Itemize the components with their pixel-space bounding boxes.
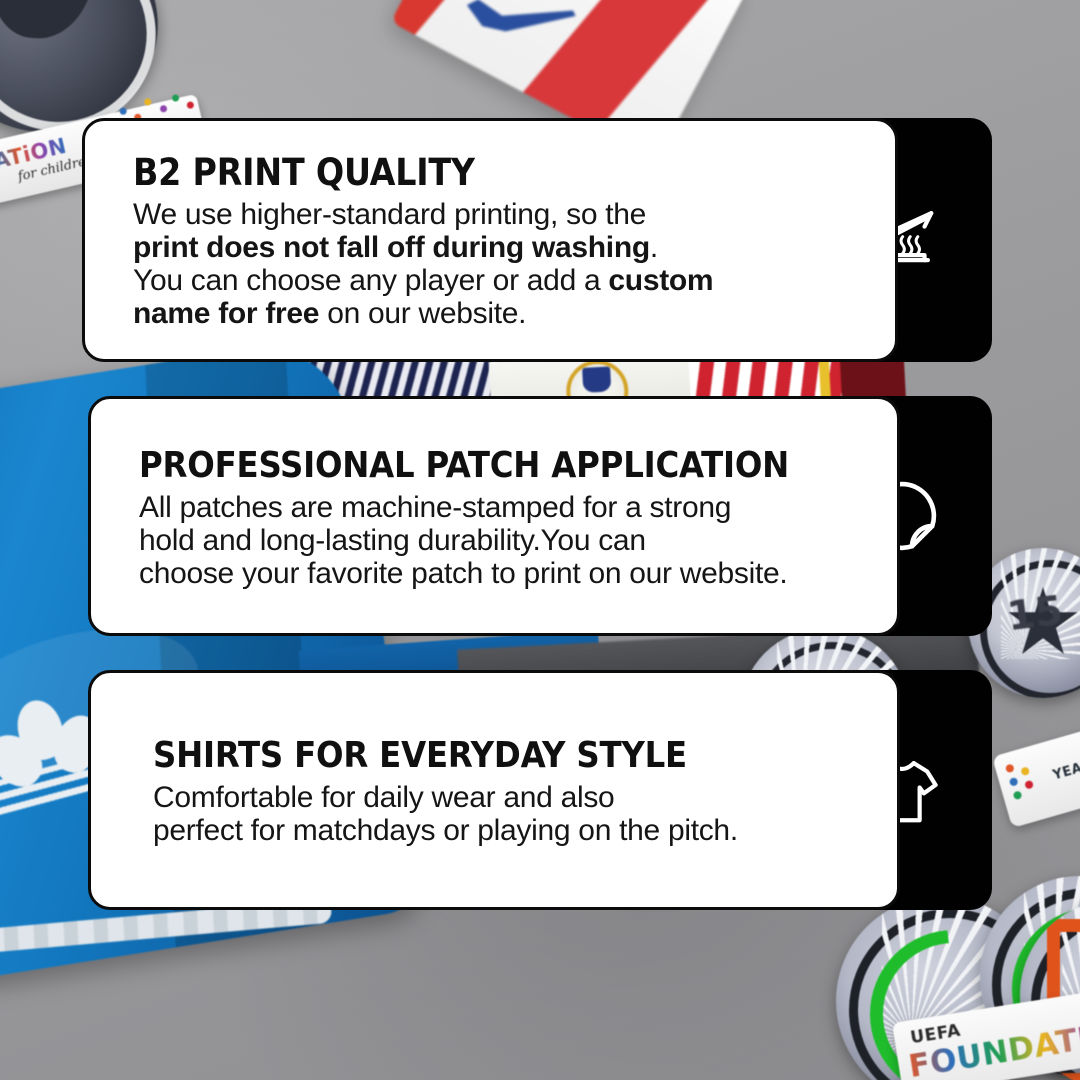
badge-number-15: 15 [1001, 584, 1069, 643]
card-body: PROFESSIONAL PATCH APPLICATION All patch… [88, 396, 900, 636]
card-text: Comfortable for daily wear and alsoperfe… [153, 781, 897, 847]
card-text-line: We use higher-standard printing, so the [133, 198, 895, 231]
anniversary-tag-text: YEARS [1051, 755, 1080, 783]
card-body: B2 PRINT QUALITY We use higher-standard … [82, 118, 898, 362]
card-text-line: perfect for matchdays or playing on the … [153, 814, 897, 847]
card-text: All patches are machine-stamped for a st… [139, 491, 897, 590]
feature-card-b2-print-quality[interactable]: B2 PRINT QUALITY We use higher-standard … [82, 118, 992, 362]
card-title: B2 PRINT QUALITY [133, 150, 895, 196]
card-text-line: All patches are machine-stamped for a st… [139, 491, 897, 524]
foundation-text: FOUNDATION [906, 1012, 1080, 1080]
card-body: SHIRTS FOR EVERYDAY STYLE Comfortable fo… [88, 670, 900, 910]
card-text-line: print does not fall off during washing. [133, 231, 895, 264]
card-text: We use higher-standard printing, so thep… [133, 198, 895, 330]
anniversary-tag: YEARS [992, 726, 1080, 828]
feature-card-shirts-for-everyday-style[interactable]: SHIRTS FOR EVERYDAY STYLE Comfortable fo… [88, 670, 992, 910]
feature-card-professional-patch-application[interactable]: PROFESSIONAL PATCH APPLICATION All patch… [88, 396, 992, 636]
card-text-line: hold and long-lasting durability.You can [139, 524, 897, 557]
card-text-line: Comfortable for daily wear and also [153, 781, 897, 814]
card-title: PROFESSIONAL PATCH APPLICATION [139, 443, 897, 489]
card-text-line: name for free on our website. [133, 297, 895, 330]
card-title: SHIRTS FOR EVERYDAY STYLE [153, 733, 897, 779]
card-text-line: choose your favorite patch to print on o… [139, 557, 897, 590]
card-text-line: You can choose any player or add a custo… [133, 264, 895, 297]
